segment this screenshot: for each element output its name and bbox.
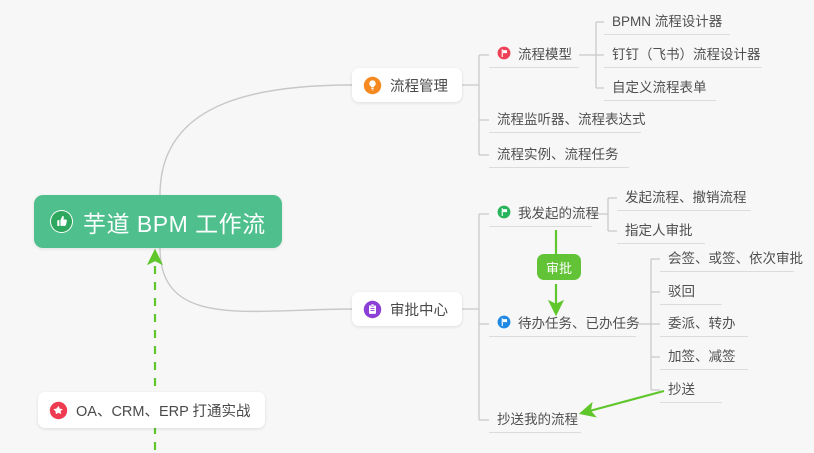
approval-tag[interactable]: 审批	[537, 254, 581, 280]
clipboard-icon	[363, 300, 382, 319]
lightbulb-pin-icon	[363, 76, 382, 95]
wire-root-to-approval-center	[160, 248, 352, 311]
root-label: 芋道 BPM 工作流	[83, 205, 266, 239]
node-add-remove-sign[interactable]: 加签、减签	[660, 344, 748, 370]
node-custom-process-form[interactable]: 自定义流程表单	[604, 75, 716, 101]
node-process-listener-expression[interactable]: 流程监听器、流程表达式	[489, 107, 641, 133]
flag-icon-red	[497, 46, 511, 60]
node-process-listener-expression-label: 流程监听器、流程表达式	[497, 108, 646, 128]
branch-approval-center-label: 审批中心	[390, 299, 448, 320]
node-my-initiated-process-label: 我发起的流程	[518, 202, 599, 222]
node-process-model-label: 流程模型	[518, 43, 572, 63]
branch-approval-center[interactable]: 审批中心	[352, 292, 462, 326]
node-cc[interactable]: 抄送	[660, 377, 722, 403]
node-cc-to-me-process[interactable]: 抄送我的流程	[489, 407, 581, 433]
node-reject-label: 驳回	[668, 280, 695, 300]
node-countersign-orsign-sequential-label: 会签、或签、依次审批	[668, 247, 803, 267]
node-delegate-transfer-label: 委派、转办	[668, 312, 736, 332]
node-dingtalk-feishu-designer-label: 钉钉（飞书）流程设计器	[612, 43, 761, 63]
thumbs-up-icon	[50, 210, 73, 233]
node-custom-process-form-label: 自定义流程表单	[612, 76, 707, 96]
floating-node-oa-crm-erp-label: OA、CRM、ERP 打通实战	[76, 400, 251, 421]
node-todo-done-tasks-label: 待办任务、已办任务	[518, 312, 640, 332]
flag-icon-blue	[497, 315, 511, 329]
flag-icon-green	[497, 205, 511, 219]
approval-tag-label: 审批	[546, 258, 572, 277]
node-designated-approver[interactable]: 指定人审批	[617, 218, 705, 244]
node-todo-done-tasks[interactable]: 待办任务、已办任务	[489, 311, 636, 337]
node-bpmn-designer[interactable]: BPMN 流程设计器	[604, 9, 730, 35]
floating-node-oa-crm-erp[interactable]: OA、CRM、ERP 打通实战	[38, 392, 265, 428]
branch-process-management-label: 流程管理	[390, 75, 448, 96]
root-node[interactable]: 芋道 BPM 工作流	[34, 195, 282, 248]
node-start-cancel-process-label: 发起流程、撤销流程	[625, 186, 747, 206]
node-start-cancel-process[interactable]: 发起流程、撤销流程	[617, 185, 751, 211]
node-cc-to-me-process-label: 抄送我的流程	[497, 408, 578, 428]
node-dingtalk-feishu-designer[interactable]: 钉钉（飞书）流程设计器	[604, 42, 762, 68]
node-designated-approver-label: 指定人审批	[625, 219, 693, 239]
node-delegate-transfer[interactable]: 委派、转办	[660, 311, 748, 337]
node-add-remove-sign-label: 加签、减签	[668, 345, 736, 365]
star-icon	[49, 401, 68, 420]
node-bpmn-designer-label: BPMN 流程设计器	[612, 10, 722, 30]
node-reject[interactable]: 驳回	[660, 279, 722, 305]
node-process-instance-task-label: 流程实例、流程任务	[497, 143, 619, 163]
node-process-instance-task[interactable]: 流程实例、流程任务	[489, 142, 629, 168]
wire-root-to-process-management	[160, 85, 352, 195]
mindmap-canvas: 芋道 BPM 工作流 流程管理 审批中心	[0, 0, 814, 453]
node-process-model[interactable]: 流程模型	[489, 42, 579, 68]
node-countersign-orsign-sequential[interactable]: 会签、或签、依次审批	[660, 246, 794, 272]
green-arrow-cc-to-ccme	[582, 391, 664, 413]
node-cc-label: 抄送	[668, 378, 695, 398]
node-my-initiated-process[interactable]: 我发起的流程	[489, 201, 592, 227]
branch-process-management[interactable]: 流程管理	[352, 68, 462, 102]
